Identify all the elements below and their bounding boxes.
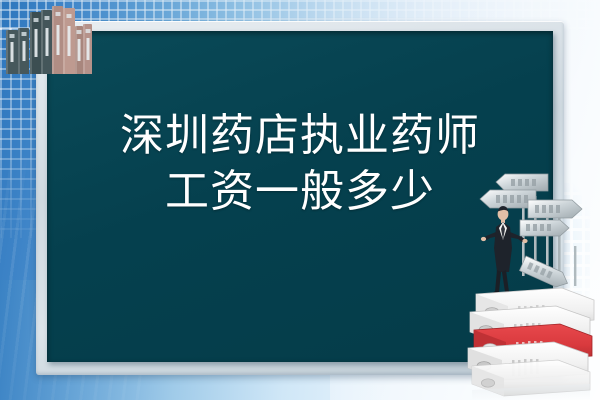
binder-label-strip: [22, 41, 25, 61]
binder-ring-icon: [10, 34, 15, 38]
binder-ring-icon: [67, 14, 72, 18]
binder-label-strip: [11, 42, 14, 61]
binder-label-strip: [78, 39, 81, 60]
binder-label-strip: [56, 25, 59, 55]
binder-5: [52, 6, 63, 74]
stacked-binders-icon: [468, 288, 594, 400]
binder-2: [18, 28, 29, 74]
page-title-line-1: 深圳药店执业药师: [47, 108, 553, 164]
binder-label-strip: [45, 28, 48, 56]
binder-ring-icon: [33, 18, 38, 22]
binder-6: [63, 8, 75, 74]
binder-label-strip: [86, 38, 89, 60]
binder-4: [41, 10, 52, 74]
binder-row-top-left: [6, 2, 90, 74]
binder-ring-icon: [77, 30, 82, 34]
businessman-figure-icon: [481, 206, 528, 295]
binder-label-strip: [68, 26, 71, 55]
binder-8: [83, 24, 92, 74]
binder-1: [6, 30, 18, 74]
scene-illustration: [466, 160, 600, 400]
binder-ring-icon: [44, 16, 49, 20]
binder-ring-icon: [21, 32, 26, 36]
binder-ring-icon: [85, 29, 90, 33]
direction-signposts-icon: [480, 174, 582, 291]
businessman-on-binder-stack: [466, 160, 600, 400]
binder-ring-icon: [55, 12, 60, 16]
binder-7: [75, 26, 83, 74]
binder-label-strip: [34, 29, 37, 56]
binder-3: [30, 12, 41, 74]
cover-image-canvas: 深圳药店执业药师 工资一般多少: [0, 0, 600, 400]
